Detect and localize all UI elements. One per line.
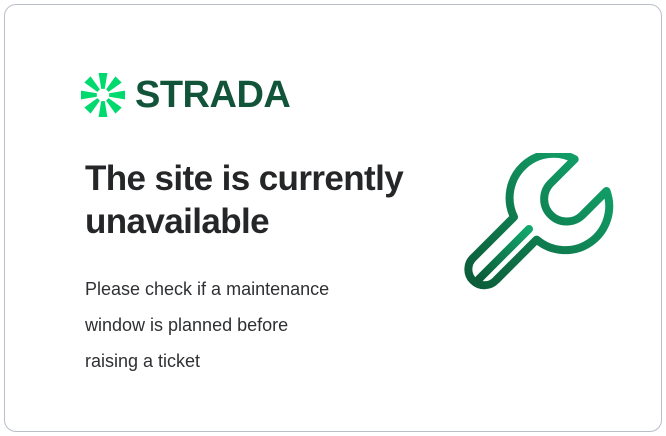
description-line: raising a ticket [85, 343, 415, 379]
page-title: The site is currently unavailable [85, 157, 425, 243]
status-card: STRADA The site is currently unavailable… [4, 4, 662, 432]
maintenance-illustration [457, 153, 621, 317]
wrench-icon [457, 153, 621, 317]
page-description: Please check if a maintenance window is … [85, 271, 415, 379]
error-page: STRADA The site is currently unavailable… [0, 0, 666, 436]
description-line: Please check if a maintenance [85, 271, 415, 307]
description-line: window is planned before [85, 307, 415, 343]
brand-wordmark: STRADA [135, 76, 290, 114]
brand-logo: STRADA [81, 73, 290, 117]
strada-asterisk-icon [81, 73, 125, 117]
